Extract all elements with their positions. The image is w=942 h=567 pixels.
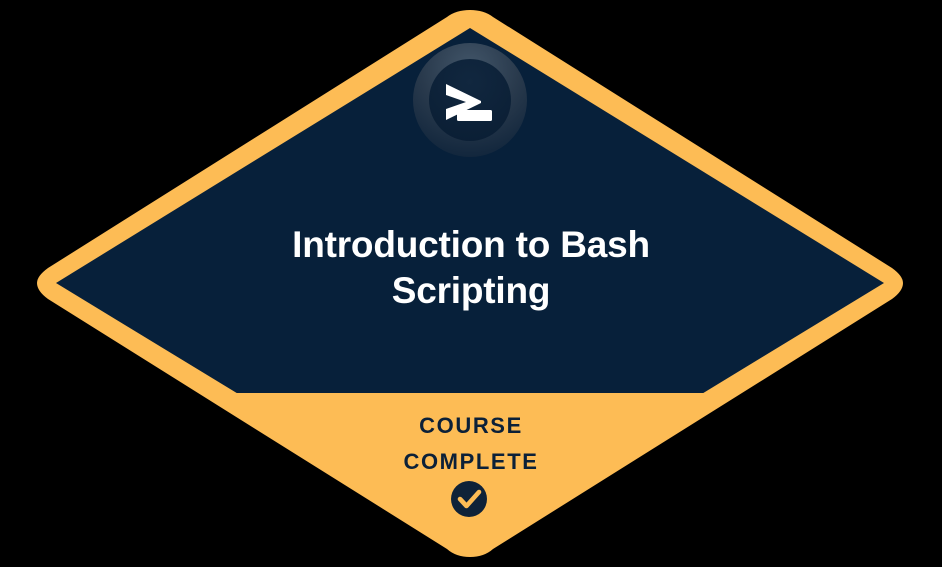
badge-canvas: Introduction to Bash Scripting COURSE CO… <box>0 0 942 567</box>
check-circle-icon <box>451 481 487 517</box>
course-completion-badge <box>0 0 942 567</box>
terminal-prompt-icon <box>413 43 527 157</box>
